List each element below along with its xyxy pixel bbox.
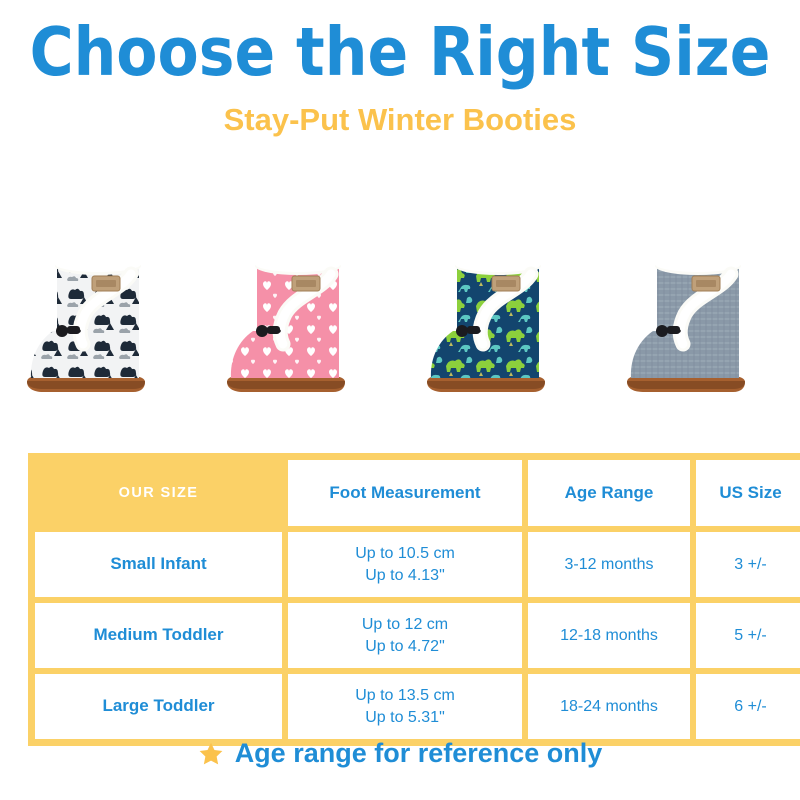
product-image-heart-print-bootie bbox=[213, 232, 388, 407]
size-chart-table: OUR SIZE Foot Measurement Age Range US S… bbox=[28, 453, 800, 746]
star-icon bbox=[198, 741, 224, 767]
foot-measurement-in: Up to 5.31" bbox=[365, 709, 445, 726]
cell-size-name: Large Toddler bbox=[32, 671, 285, 742]
page-subtitle: Stay-Put Winter Booties bbox=[0, 103, 800, 137]
page-title: Choose the Right Size bbox=[0, 18, 800, 89]
cell-foot-measurement: Up to 13.5 cm Up to 5.31" bbox=[285, 671, 525, 742]
product-image-solid-gray-bootie bbox=[613, 232, 788, 407]
foot-measurement-cm: Up to 13.5 cm bbox=[355, 687, 455, 704]
column-header-our-size: OUR SIZE bbox=[32, 457, 285, 529]
foot-measurement-in: Up to 4.72" bbox=[365, 638, 445, 655]
cell-size-name: Small Infant bbox=[32, 529, 285, 600]
table-row: Medium Toddler Up to 12 cm Up to 4.72" 1… bbox=[32, 600, 800, 671]
cell-age-range: 12-18 months bbox=[525, 600, 693, 671]
foot-measurement-cm: Up to 10.5 cm bbox=[355, 545, 455, 562]
page-header: Choose the Right Size Stay-Put Winter Bo… bbox=[0, 0, 800, 137]
cell-age-range: 3-12 months bbox=[525, 529, 693, 600]
cell-size-name: Medium Toddler bbox=[32, 600, 285, 671]
table-row: Large Toddler Up to 13.5 cm Up to 5.31" … bbox=[32, 671, 800, 742]
foot-measurement-cm: Up to 12 cm bbox=[362, 616, 448, 633]
footer-note-text: Age range for reference only bbox=[235, 738, 603, 769]
column-header-foot-measurement: Foot Measurement bbox=[285, 457, 525, 529]
product-image-bear-print-bootie bbox=[13, 232, 188, 407]
footer-note: Age range for reference only bbox=[0, 738, 800, 769]
table-row: Small Infant Up to 10.5 cm Up to 4.13" 3… bbox=[32, 529, 800, 600]
column-header-us-size: US Size bbox=[693, 457, 800, 529]
cell-us-size: 5 +/- bbox=[693, 600, 800, 671]
column-header-age-range: Age Range bbox=[525, 457, 693, 529]
cell-age-range: 18-24 months bbox=[525, 671, 693, 742]
table-header-row: OUR SIZE Foot Measurement Age Range US S… bbox=[32, 457, 800, 529]
cell-us-size: 6 +/- bbox=[693, 671, 800, 742]
foot-measurement-in: Up to 4.13" bbox=[365, 567, 445, 584]
cell-foot-measurement: Up to 10.5 cm Up to 4.13" bbox=[285, 529, 525, 600]
product-image-row bbox=[0, 232, 800, 407]
cell-us-size: 3 +/- bbox=[693, 529, 800, 600]
product-image-dinosaur-print-bootie bbox=[413, 232, 588, 407]
cell-foot-measurement: Up to 12 cm Up to 4.72" bbox=[285, 600, 525, 671]
